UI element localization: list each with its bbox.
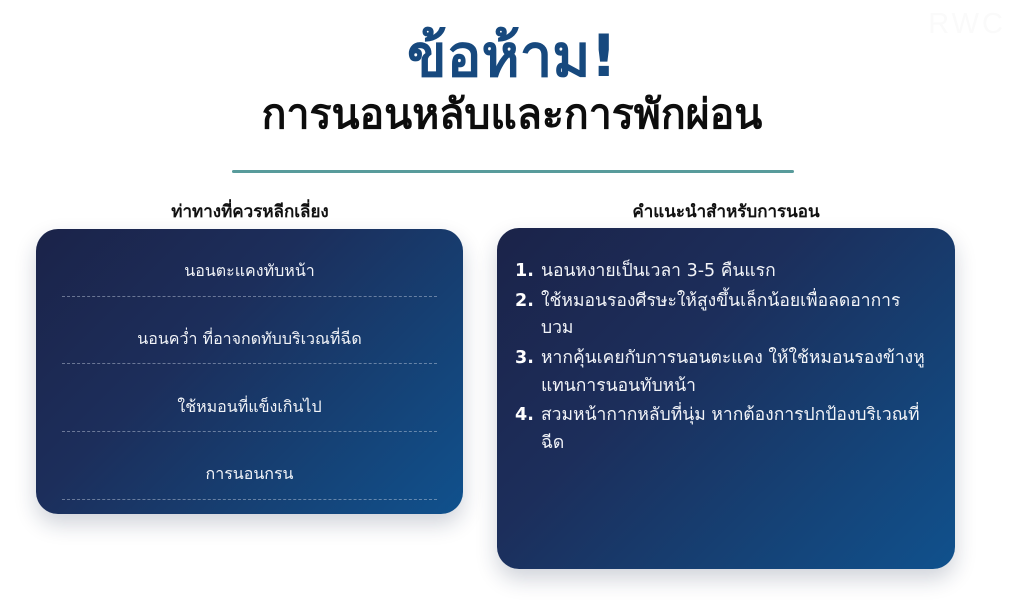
column-header-tips: คำแนะนำสำหรับการนอน <box>497 198 955 225</box>
list-item: สวมหน้ากากหลับที่นุ่ม หากต้องการปกป้องบร… <box>515 402 929 457</box>
list-item: นอนตะแคงทับหน้า <box>62 247 437 297</box>
slide-root: RWC ข้อห้าม! การนอนหลับและการพักผ่อน ท่า… <box>0 0 1024 600</box>
heading-divider <box>232 170 794 173</box>
tips-card: นอนหงายเป็นเวลา 3-5 คืนแรก ใช้หมอนรองศีร… <box>497 228 955 569</box>
list-item: การนอนกรน <box>62 450 437 500</box>
tips-list: นอนหงายเป็นเวลา 3-5 คืนแรก ใช้หมอนรองศีร… <box>515 258 929 457</box>
heading-block: ข้อห้าม! การนอนหลับและการพักผ่อน <box>0 0 1024 138</box>
page-title: ข้อห้าม! <box>0 0 1024 86</box>
list-item: นอนหงายเป็นเวลา 3-5 คืนแรก <box>515 258 929 286</box>
list-item: หากคุ้นเคยกับการนอนตะแคง ให้ใช้หมอนรองข้… <box>515 345 929 400</box>
avoid-card: นอนตะแคงทับหน้า นอนคว่ำ ที่อาจกดทับบริเว… <box>36 229 463 514</box>
list-item: ใช้หมอนรองศีรษะให้สูงขึ้นเล็กน้อยเพื่อลด… <box>515 288 929 343</box>
column-header-avoid: ท่าทางที่ควรหลีกเลี่ยง <box>0 198 500 225</box>
list-item: นอนคว่ำ ที่อาจกดทับบริเวณที่ฉีด <box>62 315 437 365</box>
list-item: ใช้หมอนที่แข็งเกินไป <box>62 383 437 433</box>
page-subtitle: การนอนหลับและการพักผ่อน <box>0 86 1024 138</box>
